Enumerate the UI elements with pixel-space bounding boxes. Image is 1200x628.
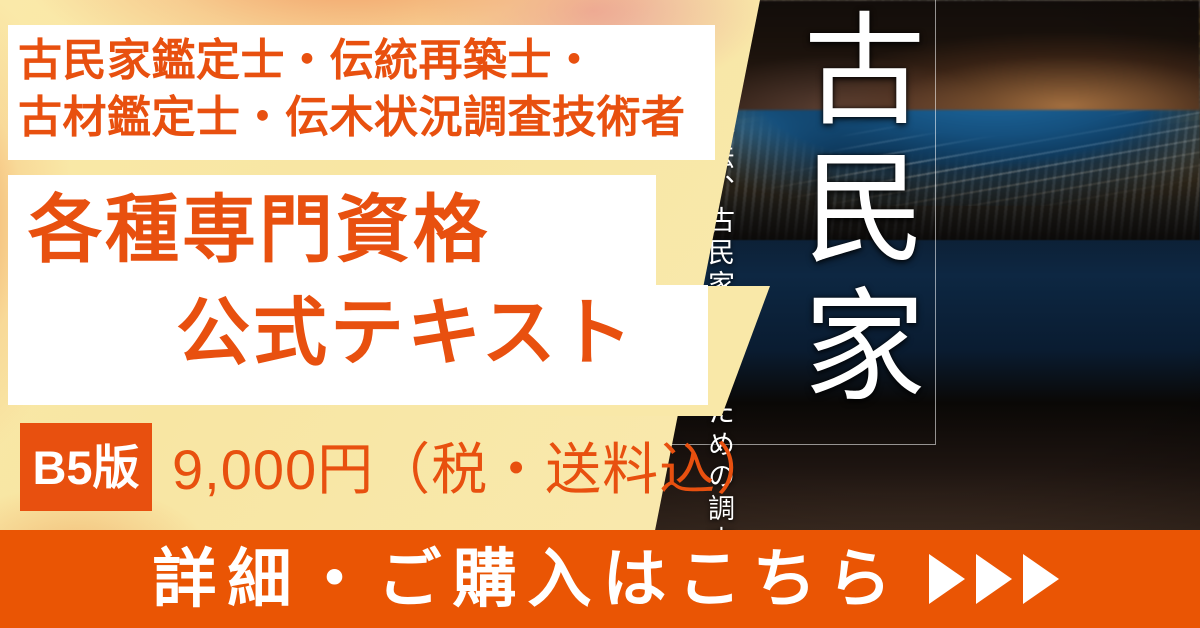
title-line-2: 公式テキスト bbox=[176, 296, 636, 370]
price-text: 9,000円（税・送料込） bbox=[172, 431, 773, 509]
promo-banner: 伝統構法、古民家活用のための調査と再生の 古民家 古民家鑑定士・伝統再築士・ 古… bbox=[0, 0, 1200, 628]
chevron-right-icon bbox=[929, 554, 965, 604]
qualifications-text: 古民家鑑定士・伝統再築士・ 古材鑑定士・伝木状況調査技術者 bbox=[18, 32, 718, 146]
chevron-right-icon bbox=[976, 554, 1012, 604]
book-cover-title: 古民家 bbox=[764, 6, 941, 420]
chevron-right-icon bbox=[1023, 554, 1059, 604]
cta-label: 詳細・ご購入はこちら bbox=[142, 547, 903, 611]
format-badge: B5版 bbox=[20, 423, 152, 511]
cta-button[interactable]: 詳細・ご購入はこちら bbox=[0, 530, 1200, 628]
title-line-1: 各種専門資格 bbox=[28, 193, 490, 267]
cta-arrow-group bbox=[929, 554, 1059, 604]
